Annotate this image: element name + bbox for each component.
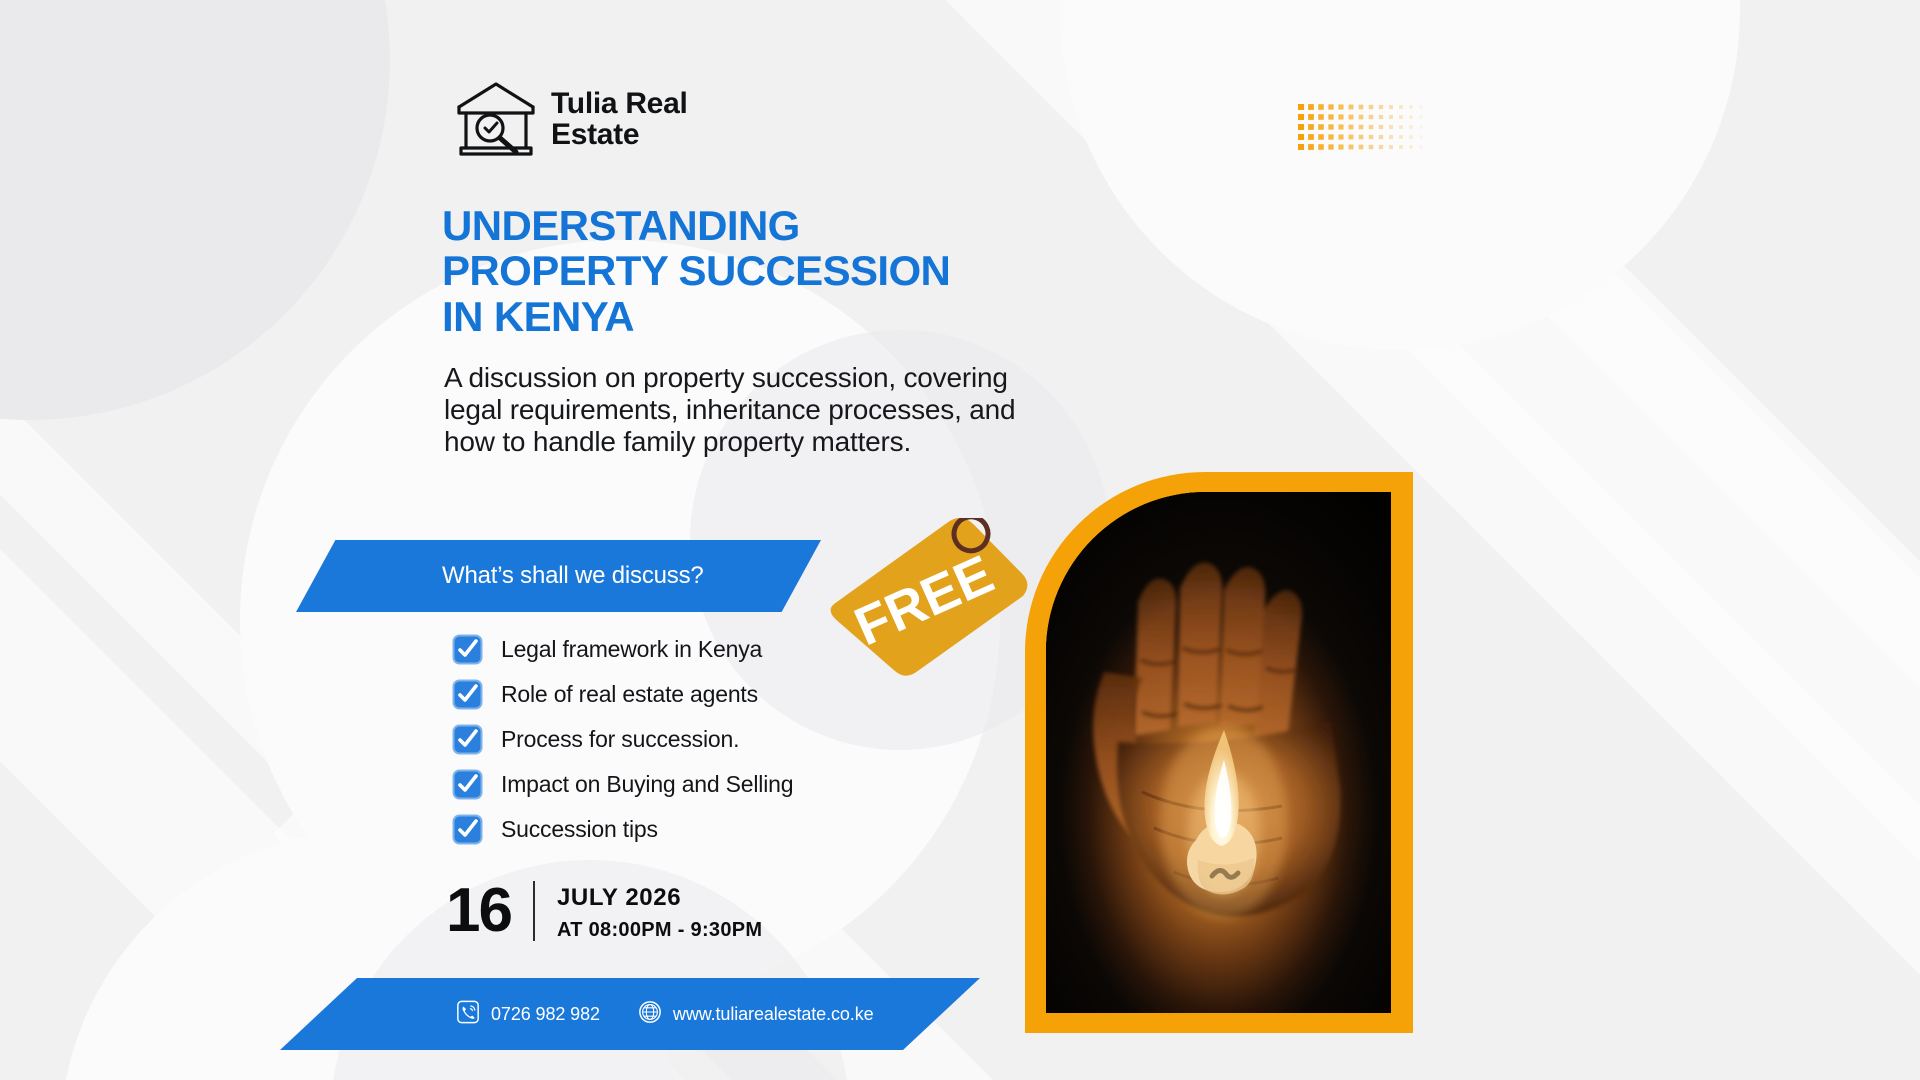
- list-item[interactable]: Legal framework in Kenya: [452, 632, 793, 666]
- checkbox-checked-icon[interactable]: [452, 724, 483, 755]
- discussion-topics-list: Legal framework in Kenya Role of real es…: [452, 632, 793, 846]
- event-date-block: 16 JULY 2026 AT 08:00PM - 9:30PM: [446, 880, 762, 942]
- phone-icon: [456, 1000, 480, 1029]
- description-text: A discussion on property succession, cov…: [444, 362, 1024, 459]
- event-day: 16: [446, 880, 511, 942]
- list-item[interactable]: Succession tips: [452, 812, 793, 846]
- divider: [533, 881, 535, 941]
- photo-frame: [1025, 472, 1413, 1033]
- brand-name: Tulia Real Estate: [551, 88, 711, 150]
- page-title: UNDERSTANDING PROPERTY SUCCESSION IN KEN…: [442, 203, 1002, 339]
- checkbox-checked-icon[interactable]: [452, 679, 483, 710]
- poster-canvas: Tulia Real Estate UNDERSTANDING PROPERTY…: [0, 0, 1920, 1080]
- free-price-tag: FREE: [828, 518, 1043, 678]
- contact-phone-text: 0726 982 982: [491, 1004, 600, 1025]
- list-item-label: Process for succession.: [501, 726, 739, 753]
- contact-website[interactable]: www.tuliarealestate.co.ke: [638, 1000, 874, 1029]
- checkbox-checked-icon[interactable]: [452, 634, 483, 665]
- dot-grid-decoration: [1298, 104, 1428, 161]
- event-time: AT 08:00PM - 9:30PM: [557, 919, 762, 942]
- contact-phone[interactable]: 0726 982 982: [456, 1000, 600, 1029]
- list-item[interactable]: Impact on Buying and Selling: [452, 767, 793, 801]
- discussion-banner: What’s shall we discuss?: [296, 540, 821, 612]
- list-item[interactable]: Process for succession.: [452, 722, 793, 756]
- globe-icon: [638, 1000, 662, 1029]
- contact-footer-bar: 0726 982 982 www.tuliarealestate.co.ke: [280, 978, 980, 1050]
- checkbox-checked-icon[interactable]: [452, 769, 483, 800]
- house-magnifier-check-icon: [455, 80, 537, 158]
- event-month-year: JULY 2026: [557, 884, 762, 912]
- discussion-banner-label: What’s shall we discuss?: [442, 562, 704, 590]
- checkbox-checked-icon[interactable]: [452, 814, 483, 845]
- list-item-label: Legal framework in Kenya: [501, 636, 762, 663]
- list-item-label: Role of real estate agents: [501, 681, 758, 708]
- brand-logo: Tulia Real Estate: [455, 80, 711, 158]
- contact-website-text: www.tuliarealestate.co.ke: [673, 1004, 874, 1025]
- photo-candle-in-hand: [1046, 492, 1391, 1013]
- list-item[interactable]: Role of real estate agents: [452, 677, 793, 711]
- list-item-label: Succession tips: [501, 816, 658, 843]
- list-item-label: Impact on Buying and Selling: [501, 771, 793, 798]
